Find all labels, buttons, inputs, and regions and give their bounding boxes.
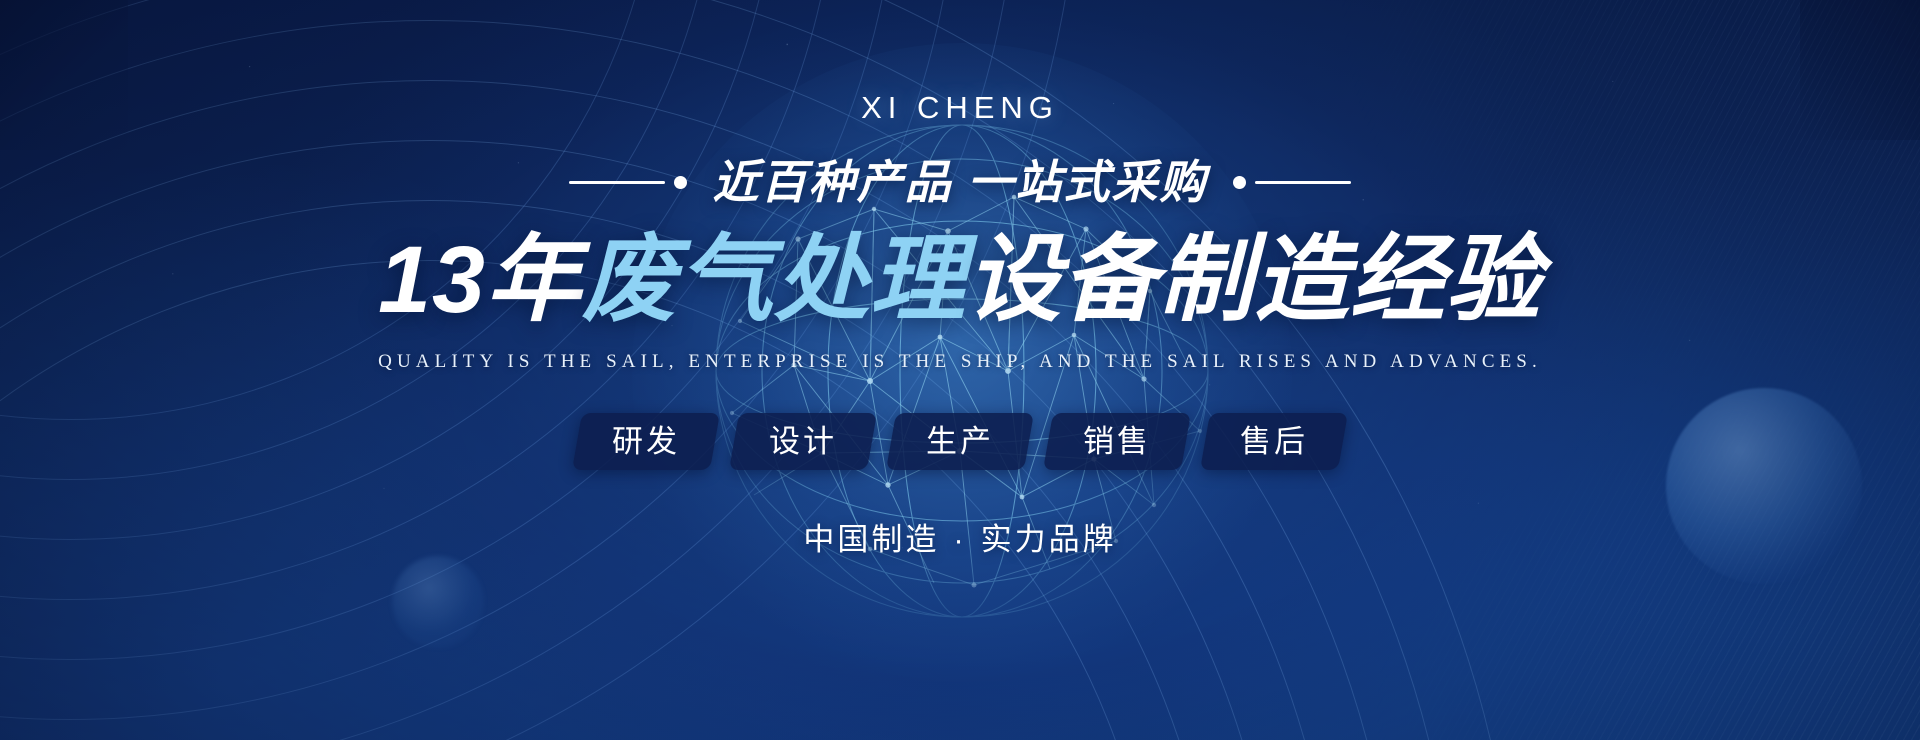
headline-segment-3: 设备制造经验 bbox=[966, 227, 1542, 333]
service-pill-label: 研发 bbox=[612, 426, 680, 457]
headline-segment-2: 废气处理 bbox=[582, 227, 966, 333]
footer-separator: · bbox=[939, 522, 980, 557]
footer-text-right: 实力品牌 bbox=[981, 522, 1117, 557]
service-pill-production[interactable]: 生产 bbox=[886, 413, 1034, 470]
banner-subtitle: 近百种产品 一站式采购 bbox=[713, 159, 1208, 205]
brand-name-english: XI CHENG bbox=[861, 92, 1059, 123]
service-pill-label: 设计 bbox=[769, 426, 837, 457]
right-rule-line bbox=[1255, 181, 1351, 184]
service-pill-label: 销售 bbox=[1083, 426, 1151, 457]
service-pill-design[interactable]: 设计 bbox=[729, 413, 877, 470]
left-rule-line bbox=[569, 181, 665, 184]
banner-headline: 13年废气处理设备制造经验 bbox=[378, 227, 1542, 333]
service-pill-aftersales[interactable]: 售后 bbox=[1200, 413, 1348, 470]
banner-content: XI CHENG 近百种产品 一站式采购 13年废气处理设备制造经验 QUALI… bbox=[0, 0, 1920, 740]
subtitle-row: 近百种产品 一站式采购 bbox=[569, 159, 1352, 205]
service-pill-sales[interactable]: 销售 bbox=[1043, 413, 1191, 470]
service-pill-label: 生产 bbox=[926, 426, 994, 457]
right-rule-dot bbox=[1233, 176, 1246, 189]
banner-footer-line: 中国制造·实力品牌 bbox=[803, 514, 1116, 559]
service-pill-label: 售后 bbox=[1240, 426, 1308, 457]
right-rule-decoration bbox=[1233, 176, 1351, 189]
service-pill-rd[interactable]: 研发 bbox=[572, 413, 720, 470]
headline-segment-1: 13年 bbox=[378, 227, 582, 333]
left-rule-decoration bbox=[569, 176, 687, 189]
left-rule-dot bbox=[674, 176, 687, 189]
footer-text-left: 中国制造 bbox=[803, 522, 939, 557]
hero-banner: XI CHENG 近百种产品 一站式采购 13年废气处理设备制造经验 QUALI… bbox=[0, 0, 1920, 740]
service-pill-list: 研发 设计 生产 销售 售后 bbox=[577, 413, 1343, 470]
english-tagline: QUALITY IS THE SAIL, ENTERPRISE IS THE S… bbox=[378, 351, 1542, 373]
